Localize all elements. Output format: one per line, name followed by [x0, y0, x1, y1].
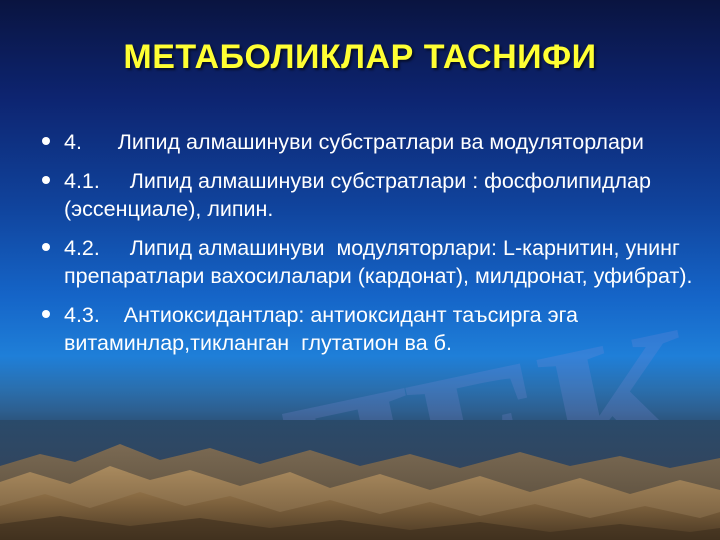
- mountain-landscape-image: [0, 420, 720, 540]
- presentation-slide: ЛЕК 24 МЕТАБОЛИКЛАР: [0, 0, 720, 540]
- bullet-dot-icon: [42, 137, 50, 145]
- bullet-dot-icon: [42, 310, 50, 318]
- list-item: 4.2. Липид алмашинуви модуляторлари: L-к…: [34, 234, 694, 290]
- bullet-dot-icon: [42, 176, 50, 184]
- list-item-text: 4.1. Липид алмашинуви субстратлари : фос…: [64, 167, 694, 223]
- bullet-dot-icon: [42, 243, 50, 251]
- list-item-text: 4.2. Липид алмашинуви модуляторлари: L-к…: [64, 234, 694, 290]
- list-item: 4.3. Антиоксидантлар: антиоксидант таъси…: [34, 301, 694, 357]
- list-item: 4.1. Липид алмашинуви субстратлари : фос…: [34, 167, 694, 223]
- slide-title: МЕТАБОЛИКЛАР ТАСНИФИ: [0, 38, 720, 77]
- list-item-text: 4.3. Антиоксидантлар: антиоксидант таъси…: [64, 301, 694, 357]
- list-item: 4. Липид алмашинуви субстратлари ва моду…: [34, 128, 694, 156]
- slide-bullet-list: 4. Липид алмашинуви субстратлари ва моду…: [34, 128, 694, 368]
- list-item-text: 4. Липид алмашинуви субстратлари ва моду…: [64, 128, 694, 156]
